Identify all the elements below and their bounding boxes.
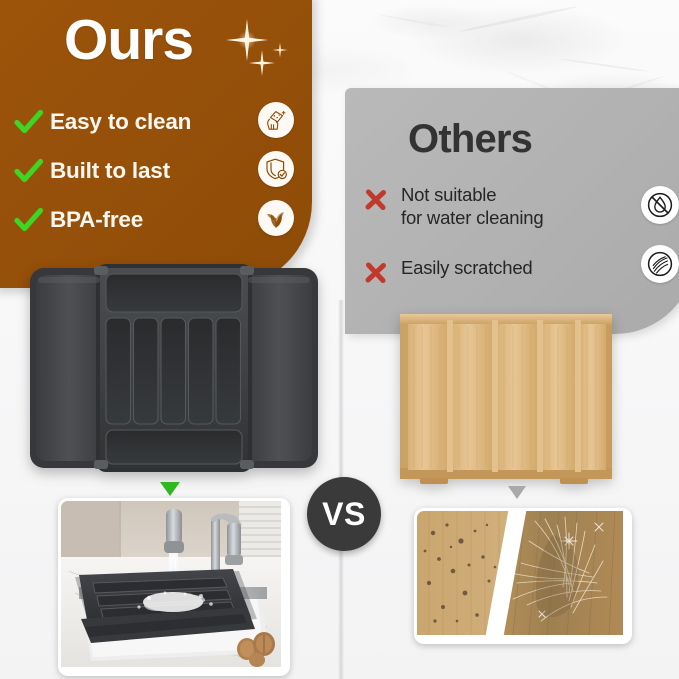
ours-feature-label: Easy to clean — [50, 109, 191, 135]
shield-check-icon — [258, 151, 294, 187]
check-icon — [14, 158, 50, 184]
others-feature-label: Easily scratched — [401, 257, 533, 280]
others-feature-row: Easily scratched — [363, 257, 613, 291]
photo-tray-rinsed-under-faucet — [58, 498, 290, 676]
cross-icon — [363, 184, 401, 218]
sparkle-icon — [248, 49, 276, 77]
ours-feature-row: Easy to clean — [14, 97, 242, 146]
others-feature-list: Not suitable for water cleaning Easily s… — [363, 184, 613, 319]
comparison-infographic: Ours Easy to clean Built to last — [0, 0, 679, 679]
ours-feature-row: Built to last — [14, 146, 242, 195]
others-panel: Others Not suitable for water cleaning — [345, 88, 679, 334]
sparkle-icon — [224, 17, 270, 63]
leaf-plant-icon — [258, 200, 294, 236]
check-icon — [14, 207, 50, 233]
photo-moldy-and-scratched-wood — [414, 508, 632, 644]
sparkle-icon — [272, 42, 288, 58]
no-water-drop-icon — [641, 186, 679, 224]
ours-panel: Ours Easy to clean Built to last — [0, 0, 312, 288]
ours-title: Ours — [64, 12, 193, 69]
product-image-dark-tray — [28, 262, 320, 480]
others-feature-row: Not suitable for water cleaning — [363, 184, 613, 229]
hand-wiping-sponge-icon — [258, 102, 294, 138]
arrow-down-gray-icon — [508, 486, 526, 499]
ours-feature-label: BPA-free — [50, 207, 143, 233]
ours-feature-label: Built to last — [50, 158, 170, 184]
others-feature-line2: for water cleaning — [401, 207, 543, 228]
product-image-bamboo-tray — [398, 310, 614, 486]
ours-feature-list: Easy to clean Built to last BPA-free — [14, 97, 242, 244]
check-icon — [14, 109, 50, 135]
scratches-icon — [641, 245, 679, 283]
vs-badge: VS — [307, 477, 381, 551]
cross-icon — [363, 257, 401, 291]
arrow-down-green-icon — [160, 482, 180, 496]
others-title: Others — [408, 119, 532, 159]
ours-feature-row: BPA-free — [14, 195, 242, 244]
others-feature-line1: Not suitable — [401, 184, 496, 205]
others-feature-label: Not suitable for water cleaning — [401, 184, 543, 229]
